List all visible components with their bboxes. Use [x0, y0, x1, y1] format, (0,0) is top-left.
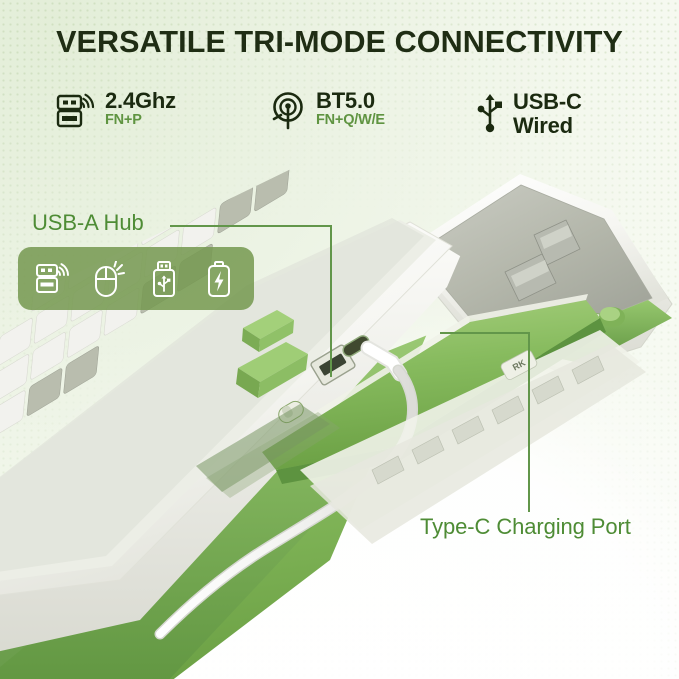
callout-label-usb-a-hub: USB-A Hub — [32, 210, 144, 236]
usb-c-charging-port — [341, 334, 371, 359]
keyboard-side-rail — [260, 294, 606, 484]
mode-name: BT5.0 — [316, 88, 375, 113]
body-reflection — [196, 404, 330, 492]
bluetooth-broadcast-icon — [271, 90, 307, 135]
mode-2-4ghz: 2.4Ghz FN+P — [56, 90, 271, 135]
mode-toggle-switch — [276, 398, 307, 425]
usb-a-hub-feature-panel — [18, 247, 254, 310]
wireless-dongle-icon — [34, 259, 74, 299]
usb-dongle-wireless-icon — [56, 90, 96, 135]
mode-usb-c-wired: USB-C Wired — [476, 90, 626, 139]
keyboard-kickstand-feet — [505, 220, 580, 301]
background-light-arc — [0, 300, 679, 679]
keycaps — [0, 0, 396, 483]
accent-keycaps — [236, 310, 308, 398]
mode-shortcut: FN+P — [105, 112, 142, 128]
mode-shortcut: Wired — [513, 113, 573, 138]
leader-line-type-c-vertical — [528, 332, 530, 512]
mouse-icon — [89, 259, 129, 299]
battery-charging-icon — [199, 259, 239, 299]
usb-c-cable — [160, 348, 413, 634]
keyboard-back-unit — [402, 174, 672, 374]
usb-trident-icon — [476, 90, 504, 139]
mode-shortcut: FN+Q/W/E — [316, 112, 385, 128]
callout-label-type-c-charging-port: Type-C Charging Port — [420, 514, 631, 540]
brand-badge: RK — [500, 349, 538, 381]
mode-bluetooth: BT5.0 FN+Q/W/E — [271, 90, 476, 135]
mode-name: 2.4Ghz — [105, 88, 176, 113]
keyboard-base-feet — [300, 330, 646, 544]
page-title: VERSATILE TRI-MODE CONNECTIVITY — [0, 25, 679, 60]
marketing-image: RK VERSATILE TRI-MODE CONNECTIVITY — [0, 0, 679, 679]
leader-line-type-c-horizontal — [440, 332, 530, 334]
mode-name: USB-C — [513, 89, 582, 114]
connectivity-modes-row: 2.4Ghz FN+P BT5.0 FN+Q/W/E — [56, 90, 628, 139]
svg-text:RK: RK — [511, 357, 528, 372]
usb-a-port — [310, 344, 356, 386]
leader-line-usb-a-vertical — [330, 225, 332, 377]
usb-flash-drive-icon — [144, 259, 184, 299]
leader-line-usb-a-horizontal — [170, 225, 332, 227]
